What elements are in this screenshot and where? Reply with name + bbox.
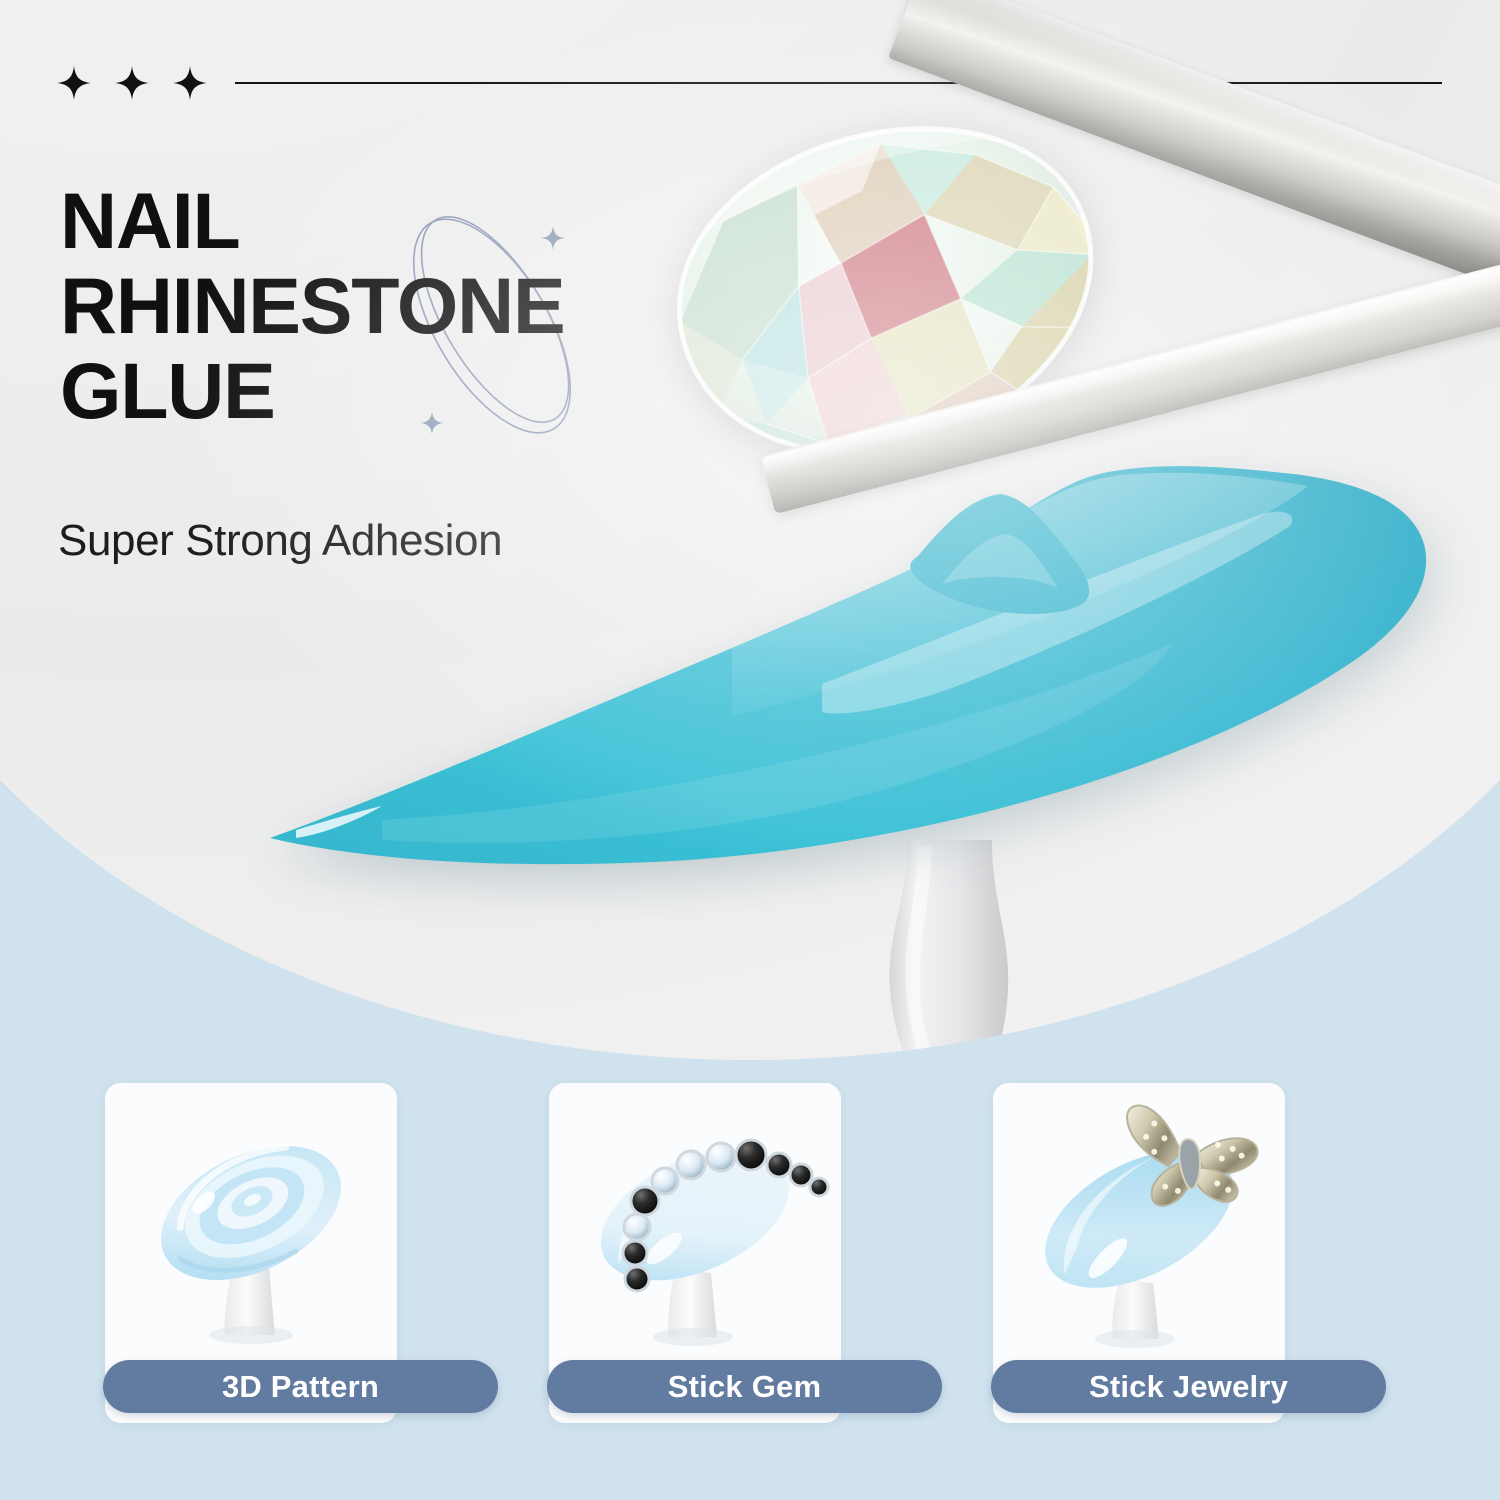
feature-label-3d-pattern[interactable]: 3D Pattern xyxy=(103,1360,498,1413)
title-line-2: RHINESTONE xyxy=(60,268,700,344)
hero-panel: NAIL RHINESTONE GLUE Super Strong Adhesi… xyxy=(0,0,1500,1060)
title-line-3: GLUE xyxy=(60,353,700,429)
feature-label-stick-gem[interactable]: Stick Gem xyxy=(547,1360,942,1413)
page-title: NAIL RHINESTONE GLUE xyxy=(60,183,700,428)
page-subtitle: Super Strong Adhesion xyxy=(58,516,502,566)
title-line-1: NAIL xyxy=(60,183,700,259)
feature-label-stick-jewelry[interactable]: Stick Jewelry xyxy=(991,1360,1386,1413)
blue-nail-with-butterfly-charm-icon xyxy=(993,1083,1285,1375)
blue-nail-with-rhinestones-icon xyxy=(549,1083,841,1375)
feature-card-row: 3D Pattern Stick Gem Stick Jewelry xyxy=(0,1083,1500,1428)
teal-press-on-nail xyxy=(262,448,1432,878)
blue-nail-3d-swirl-icon xyxy=(105,1083,397,1375)
product-infographic: NAIL RHINESTONE GLUE Super Strong Adhesi… xyxy=(0,0,1500,1500)
